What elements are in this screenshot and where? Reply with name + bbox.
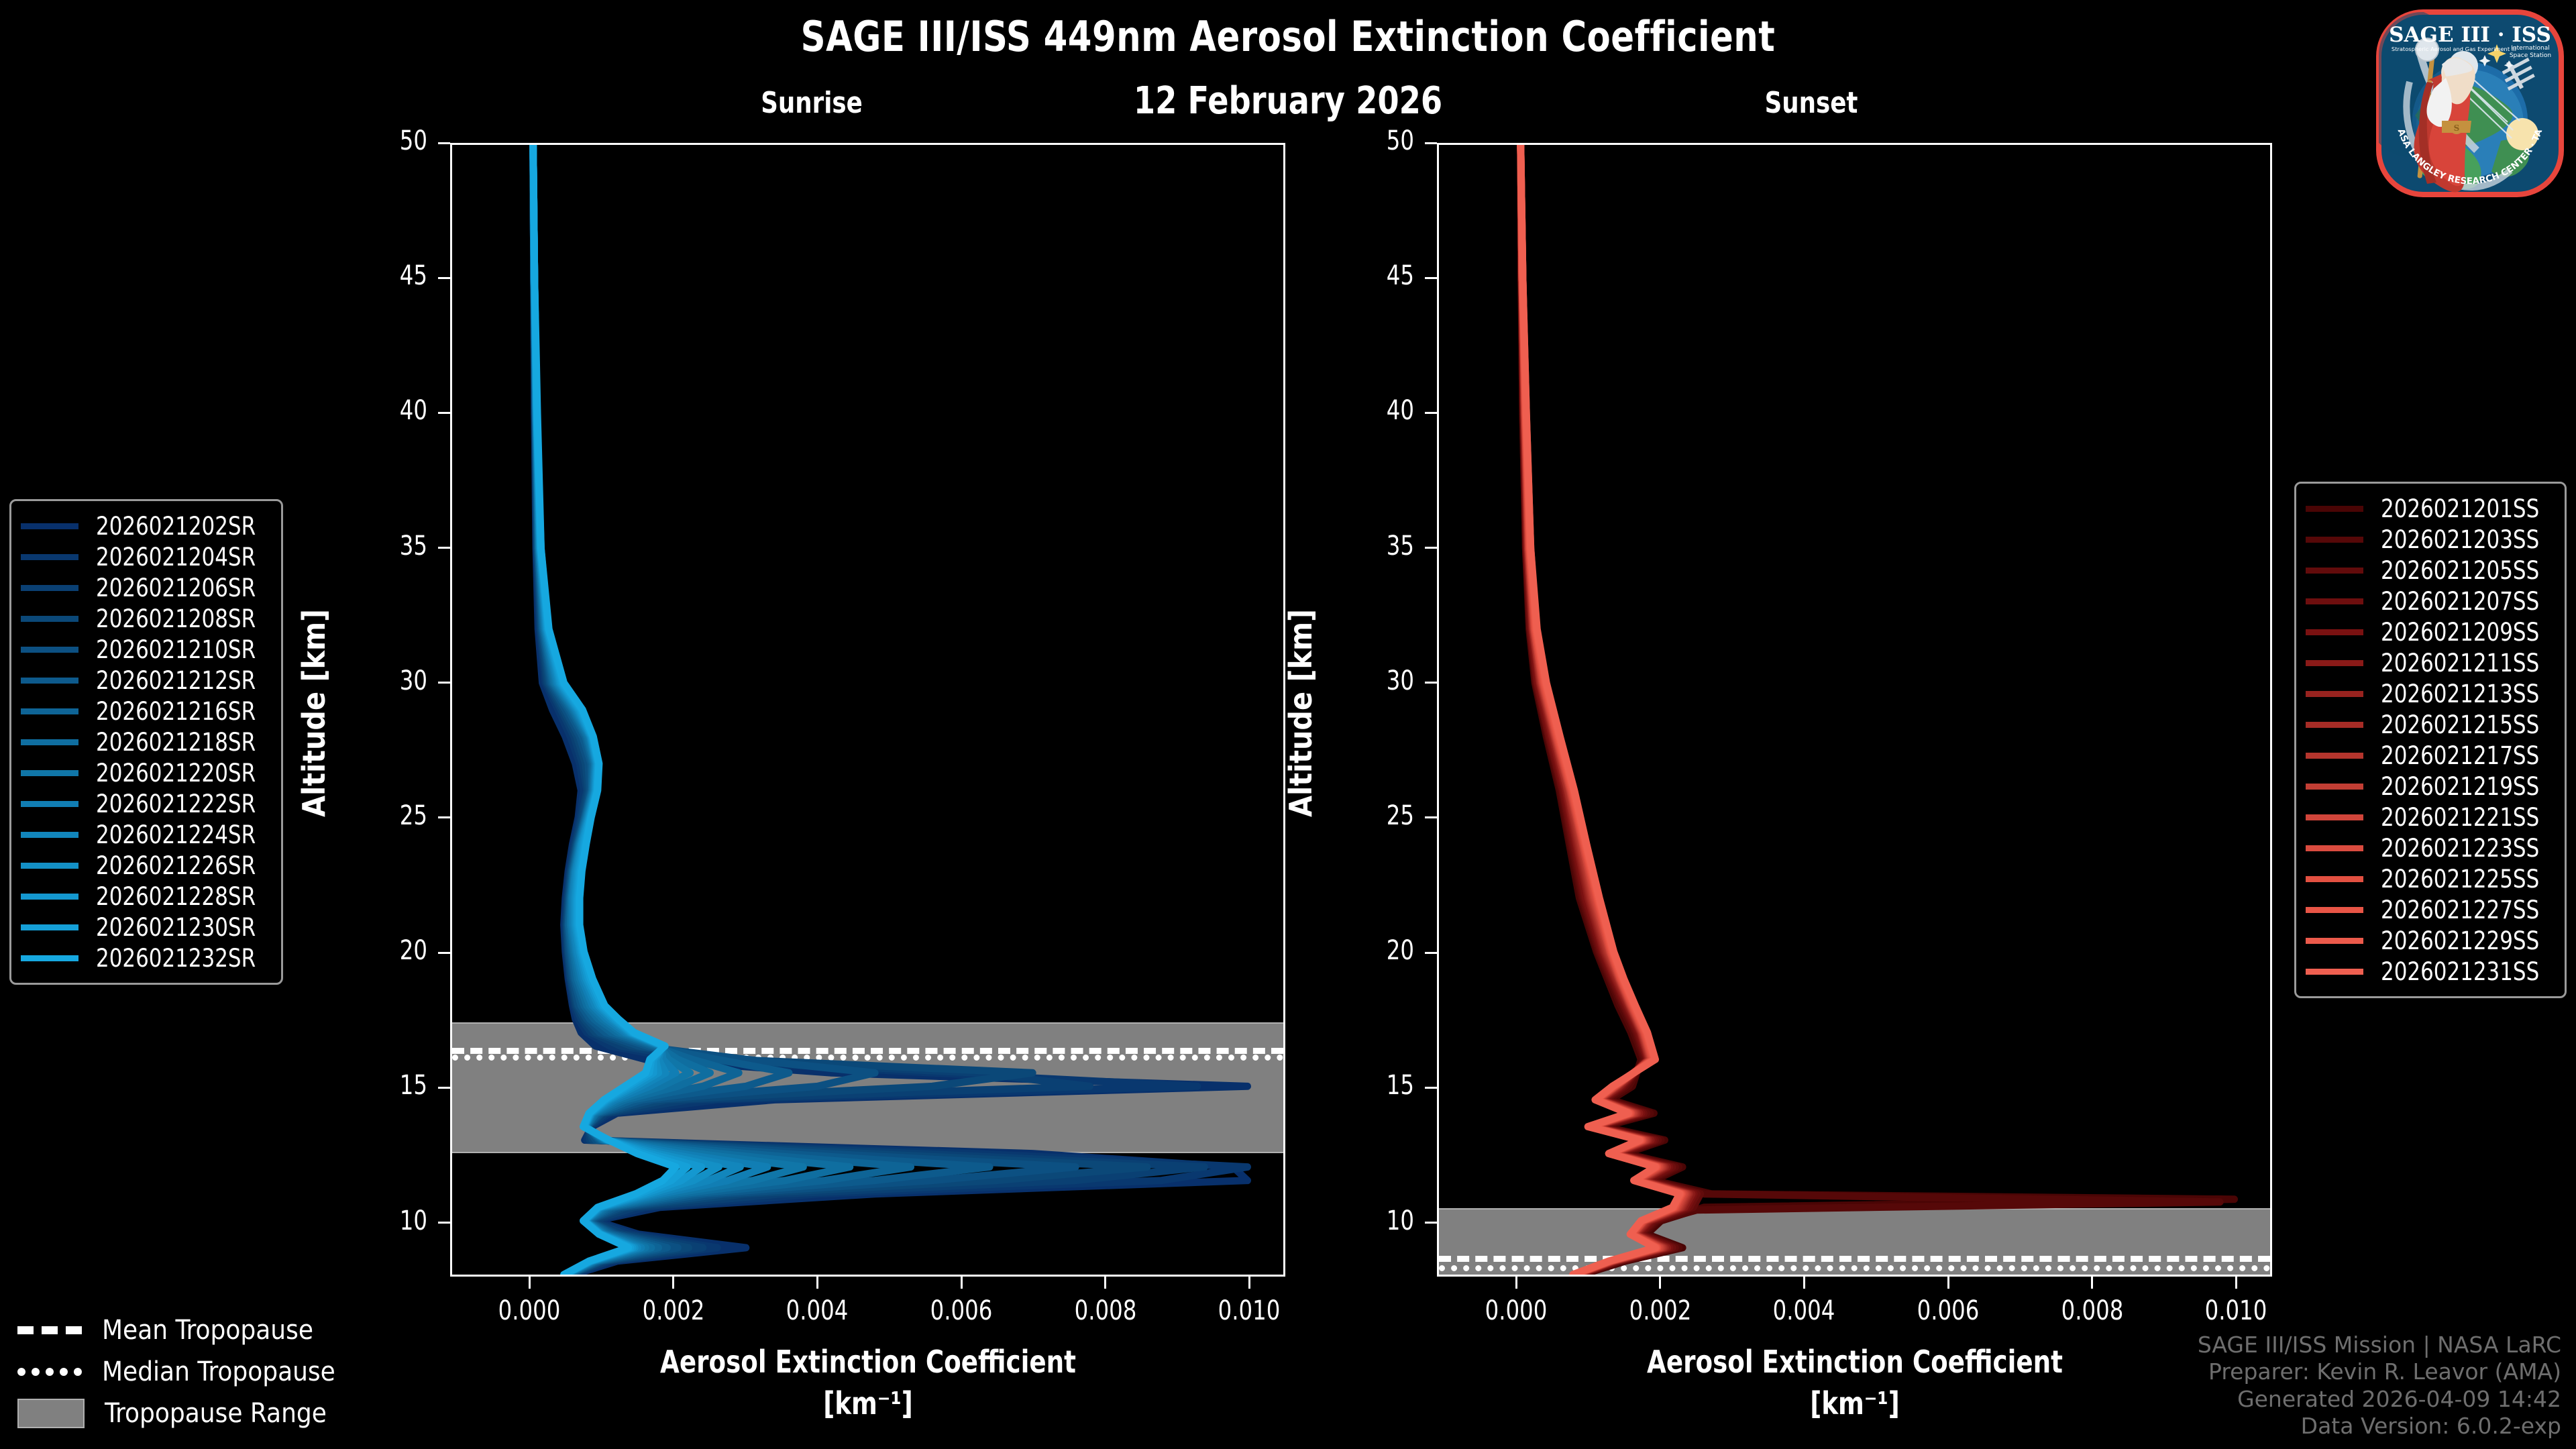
x-axis-tick-label: 0.004 [1737,1295,1870,1326]
legend-item-label: 2026021204SR [96,543,256,572]
legend-color-swatch [2306,568,2363,574]
legend-item-label: 2026021225SS [2381,865,2539,894]
legend-color-swatch [2306,598,2363,604]
tropopause-legend-label: Tropopause Range [105,1398,327,1429]
y-axis-tick [1425,952,1437,954]
legend-color-swatch [21,647,78,653]
legend-item[interactable]: 2026021207SS [2306,586,2551,616]
x-axis-tick-label: 0.008 [2026,1295,2159,1326]
sunset-xaxis-label-line2: [km⁻¹] [1493,1385,2217,1421]
legend-color-swatch [21,955,78,961]
x-axis-tick-label: 0.000 [463,1295,596,1326]
legend-item-label: 2026021208SR [96,604,256,633]
legend-item[interactable]: 2026021231SS [2306,956,2551,987]
legend-item-label: 2026021232SR [96,944,256,973]
legend-color-swatch [21,894,78,900]
legend-item[interactable]: 2026021212SR [21,665,268,696]
tropopause-legend-item: Median Tropopause [17,1351,335,1393]
x-axis-tick [1248,1277,1250,1289]
footer-data-version: Data Version: 6.0.2-exp [2198,1413,2561,1440]
legend-color-swatch [21,678,78,684]
legend-color-swatch [2306,814,2363,820]
legend-item[interactable]: 2026021228SR [21,881,268,912]
legend-color-swatch [21,523,78,529]
legend-item-label: 2026021205SS [2381,556,2539,585]
y-axis-tick-label: 25 [1338,800,1414,831]
y-axis-tick [438,1222,450,1224]
legend-item[interactable]: 2026021230SR [21,912,268,943]
sunrise-plot-area [450,143,1285,1277]
x-axis-tick [816,1277,818,1289]
legend-item-label: 2026021228SR [96,882,256,911]
legend-item-label: 2026021202SR [96,512,256,541]
y-axis-tick [438,952,450,954]
y-axis-tick [1425,1087,1437,1089]
legend-item[interactable]: 2026021232SR [21,943,268,973]
sunrise-xaxis-label-line2: [km⁻¹] [506,1385,1230,1421]
legend-item-label: 2026021212SR [96,666,256,695]
y-axis-tick-label: 30 [352,665,427,696]
legend-item[interactable]: 2026021203SS [2306,524,2551,555]
y-axis-tick-label: 15 [352,1070,427,1101]
tropopause-legend: Mean TropopauseMedian TropopauseTropopau… [17,1309,335,1434]
legend-color-swatch [21,739,78,745]
y-axis-tick-label: 20 [1338,935,1414,966]
legend-item[interactable]: 2026021219SS [2306,771,2551,802]
legend-color-swatch [21,616,78,622]
svg-text:Space Station: Space Station [2510,52,2551,59]
y-axis-tick-label: 50 [352,125,427,156]
legend-item[interactable]: 2026021221SS [2306,802,2551,833]
sage-iii-iss-mission-patch-icon: S SAGE III · ISS Stratospheric Aerosol a… [2369,3,2571,204]
legend-item-label: 2026021218SR [96,728,256,757]
x-axis-tick [2091,1277,2093,1289]
legend-item[interactable]: 2026021205SS [2306,555,2551,586]
y-axis-tick-label: 50 [1338,125,1414,156]
y-axis-tick [438,142,450,144]
legend-item[interactable]: 2026021223SS [2306,833,2551,863]
legend-item[interactable]: 2026021204SR [21,541,268,572]
tropopause-legend-item: Tropopause Range [17,1393,335,1434]
sunrise-profile-lines [452,145,1283,1275]
y-axis-tick-label: 10 [352,1205,427,1236]
y-axis-tick [438,547,450,549]
legend-item-label: 2026021226SR [96,851,256,880]
sunset-panel-title: Sunset [1721,86,1902,120]
y-axis-tick-label: 10 [1338,1205,1414,1236]
legend-item[interactable]: 2026021201SS [2306,493,2551,524]
y-axis-tick-label: 45 [1338,260,1414,291]
y-axis-tick [1425,547,1437,549]
x-axis-tick-label: 0.006 [1882,1295,2015,1326]
legend-item-label: 2026021207SS [2381,587,2539,616]
y-axis-tick-label: 40 [1338,395,1414,426]
legend-item[interactable]: 2026021222SR [21,788,268,819]
x-axis-tick-label: 0.010 [2169,1295,2302,1326]
x-axis-tick-label: 0.002 [607,1295,740,1326]
legend-item-label: 2026021203SS [2381,525,2539,554]
legend-item-label: 2026021215SS [2381,710,2539,739]
legend-item[interactable]: 2026021213SS [2306,678,2551,709]
legend-color-swatch [21,770,78,776]
tropopause-legend-swatch [17,1326,82,1334]
legend-color-swatch [2306,753,2363,759]
legend-item-label: 2026021211SS [2381,649,2539,678]
sunrise-xaxis-label-line1: Aerosol Extinction Coefficient [506,1344,1230,1380]
x-axis-tick [1659,1277,1661,1289]
legend-item[interactable]: 2026021215SS [2306,709,2551,740]
legend-color-swatch [2306,907,2363,913]
y-axis-tick [438,1087,450,1089]
y-axis-tick [1425,682,1437,684]
legend-item[interactable]: 2026021206SR [21,572,268,603]
y-axis-tick [438,277,450,279]
legend-item[interactable]: 2026021208SR [21,603,268,634]
legend-item[interactable]: 2026021217SS [2306,740,2551,771]
legend-item-label: 2026021216SR [96,697,256,726]
legend-color-swatch [21,585,78,591]
legend-item[interactable]: 2026021229SS [2306,925,2551,956]
legend-item[interactable]: 2026021216SR [21,696,268,727]
legend-color-swatch [2306,629,2363,635]
tropopause-legend-swatch [17,1368,82,1376]
legend-item-label: 2026021224SR [96,820,256,849]
legend-item-label: 2026021227SS [2381,896,2539,924]
footer-metadata: SAGE III/ISS Mission | NASA LaRC Prepare… [2198,1332,2561,1440]
legend-item[interactable]: 2026021226SR [21,850,268,881]
y-axis-tick [438,816,450,818]
legend-item-label: 2026021222SR [96,790,256,818]
y-axis-tick [1425,277,1437,279]
legend-item[interactable]: 2026021224SR [21,819,268,850]
legend-item-label: 2026021220SR [96,759,256,788]
legend-item[interactable]: 2026021210SR [21,634,268,665]
sunset-plot-area [1437,143,2272,1277]
legend-color-swatch [2306,969,2363,975]
legend-item-label: 2026021221SS [2381,803,2539,832]
legend-color-swatch [2306,722,2363,728]
y-axis-tick [438,682,450,684]
legend-item[interactable]: 2026021211SS [2306,647,2551,678]
tropopause-legend-item: Mean Tropopause [17,1309,335,1351]
legend-item-label: 2026021217SS [2381,741,2539,770]
legend-item[interactable]: 2026021227SS [2306,894,2551,925]
legend-color-swatch [21,801,78,807]
y-axis-tick-label: 45 [352,260,427,291]
y-axis-tick-label: 35 [1338,531,1414,561]
x-axis-tick-label: 0.004 [751,1295,883,1326]
x-axis-tick [672,1277,674,1289]
patch-subtitle: Stratospheric Aerosol and Gas Experiment… [2392,46,2516,52]
y-axis-tick [438,412,450,414]
y-axis-tick-label: 40 [352,395,427,426]
legend-color-swatch [2306,876,2363,882]
legend-item-label: 2026021219SS [2381,772,2539,801]
date-subtitle: 12 February 2026 [103,79,2473,123]
sunset-yaxis-label: Altitude [km] [1283,609,1319,817]
legend-item[interactable]: 2026021220SR [21,757,268,788]
x-axis-tick [2235,1277,2237,1289]
y-axis-tick-label: 25 [352,800,427,831]
legend-item[interactable]: 2026021225SS [2306,863,2551,894]
page-title: SAGE III/ISS 449nm Aerosol Extinction Co… [103,12,2473,61]
footer-generated: Generated 2026-04-09 14:42 [2198,1386,2561,1413]
legend-item[interactable]: 2026021209SS [2306,616,2551,647]
y-axis-tick-label: 20 [352,935,427,966]
tropopause-legend-label: Mean Tropopause [102,1315,313,1346]
legend-color-swatch [2306,506,2363,512]
y-axis-tick-label: 30 [1338,665,1414,696]
legend-color-swatch [21,863,78,869]
sunrise-panel-title: Sunrise [721,86,902,120]
y-axis-tick [1425,412,1437,414]
legend-color-swatch [2306,784,2363,790]
legend-item[interactable]: 2026021202SR [21,511,268,541]
legend-item-label: 2026021223SS [2381,834,2539,863]
svg-text:International: International [2511,45,2549,52]
legend-item-label: 2026021201SS [2381,494,2539,523]
svg-text:S: S [2454,123,2460,133]
legend-color-swatch [21,554,78,560]
x-axis-tick-label: 0.000 [1450,1295,1582,1326]
patch-title: SAGE III · ISS [2389,23,2551,47]
legend-item-label: 2026021213SS [2381,680,2539,708]
legend-color-swatch [21,708,78,714]
footer-mission: SAGE III/ISS Mission | NASA LaRC [2198,1332,2561,1358]
x-axis-tick [1947,1277,1949,1289]
y-axis-tick-label: 35 [352,531,427,561]
legend-color-swatch [2306,691,2363,697]
tropopause-legend-swatch [17,1399,85,1428]
legend-color-swatch [2306,938,2363,944]
x-axis-tick-label: 0.008 [1039,1295,1172,1326]
legend-item-label: 2026021206SR [96,574,256,602]
legend-item-label: 2026021229SS [2381,926,2539,955]
sunrise-event-legend[interactable]: 2026021202SR2026021204SR2026021206SR2026… [9,499,283,985]
y-axis-tick [1425,142,1437,144]
x-axis-tick-label: 0.002 [1594,1295,1727,1326]
legend-item-label: 2026021231SS [2381,957,2539,986]
y-axis-tick-label: 15 [1338,1070,1414,1101]
legend-item-label: 2026021209SS [2381,618,2539,647]
sunset-event-legend[interactable]: 2026021201SS2026021203SS2026021205SS2026… [2294,482,2567,998]
x-axis-tick-label: 0.010 [1183,1295,1316,1326]
sunrise-yaxis-label: Altitude [km] [296,609,332,817]
legend-color-swatch [2306,537,2363,543]
tropopause-legend-label: Median Tropopause [102,1356,335,1387]
x-axis-tick [1515,1277,1517,1289]
x-axis-tick [961,1277,963,1289]
sunset-profile-lines [1439,145,2270,1275]
legend-item-label: 2026021210SR [96,635,256,664]
legend-item-label: 2026021230SR [96,913,256,942]
legend-color-swatch [21,924,78,930]
x-axis-tick [529,1277,531,1289]
sunset-xaxis-label-line1: Aerosol Extinction Coefficient [1493,1344,2217,1380]
x-axis-tick-label: 0.006 [895,1295,1028,1326]
legend-color-swatch [21,832,78,838]
x-axis-tick [1803,1277,1805,1289]
x-axis-tick [1104,1277,1106,1289]
y-axis-tick [1425,816,1437,818]
legend-color-swatch [2306,845,2363,851]
legend-item[interactable]: 2026021218SR [21,727,268,757]
footer-preparer: Preparer: Kevin R. Leavor (AMA) [2198,1358,2561,1385]
legend-color-swatch [2306,660,2363,666]
y-axis-tick [1425,1222,1437,1224]
